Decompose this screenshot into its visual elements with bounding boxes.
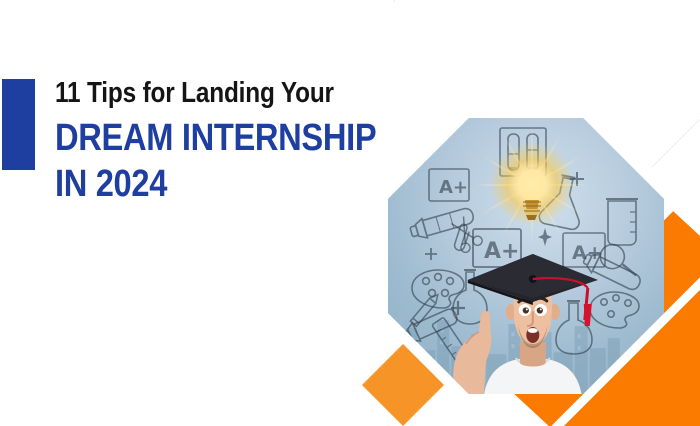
svg-text:A+: A+ xyxy=(439,177,468,198)
grade-card-doodle: A+ xyxy=(426,166,472,204)
blue-accent-bar xyxy=(2,79,35,170)
photo-content: A+ A+ A+ xyxy=(388,118,664,394)
headline-line-3: IN 2024 xyxy=(55,166,376,203)
headline-line-2: DREAM INTERNSHIP xyxy=(55,120,376,157)
headline-line-1: 11 Tips for Landing Your xyxy=(55,79,369,108)
pointing-hand xyxy=(453,311,491,394)
sparkle-doodle xyxy=(423,246,439,262)
blog-banner: A+ A+ A+ xyxy=(0,0,700,426)
lightbulb-icon xyxy=(487,150,577,240)
bulb-shape xyxy=(487,150,577,240)
graduate-person xyxy=(448,246,618,394)
mortarboard-cap xyxy=(468,254,598,305)
headline-block: 11 Tips for Landing Your DREAM INTERNSHI… xyxy=(55,79,429,203)
